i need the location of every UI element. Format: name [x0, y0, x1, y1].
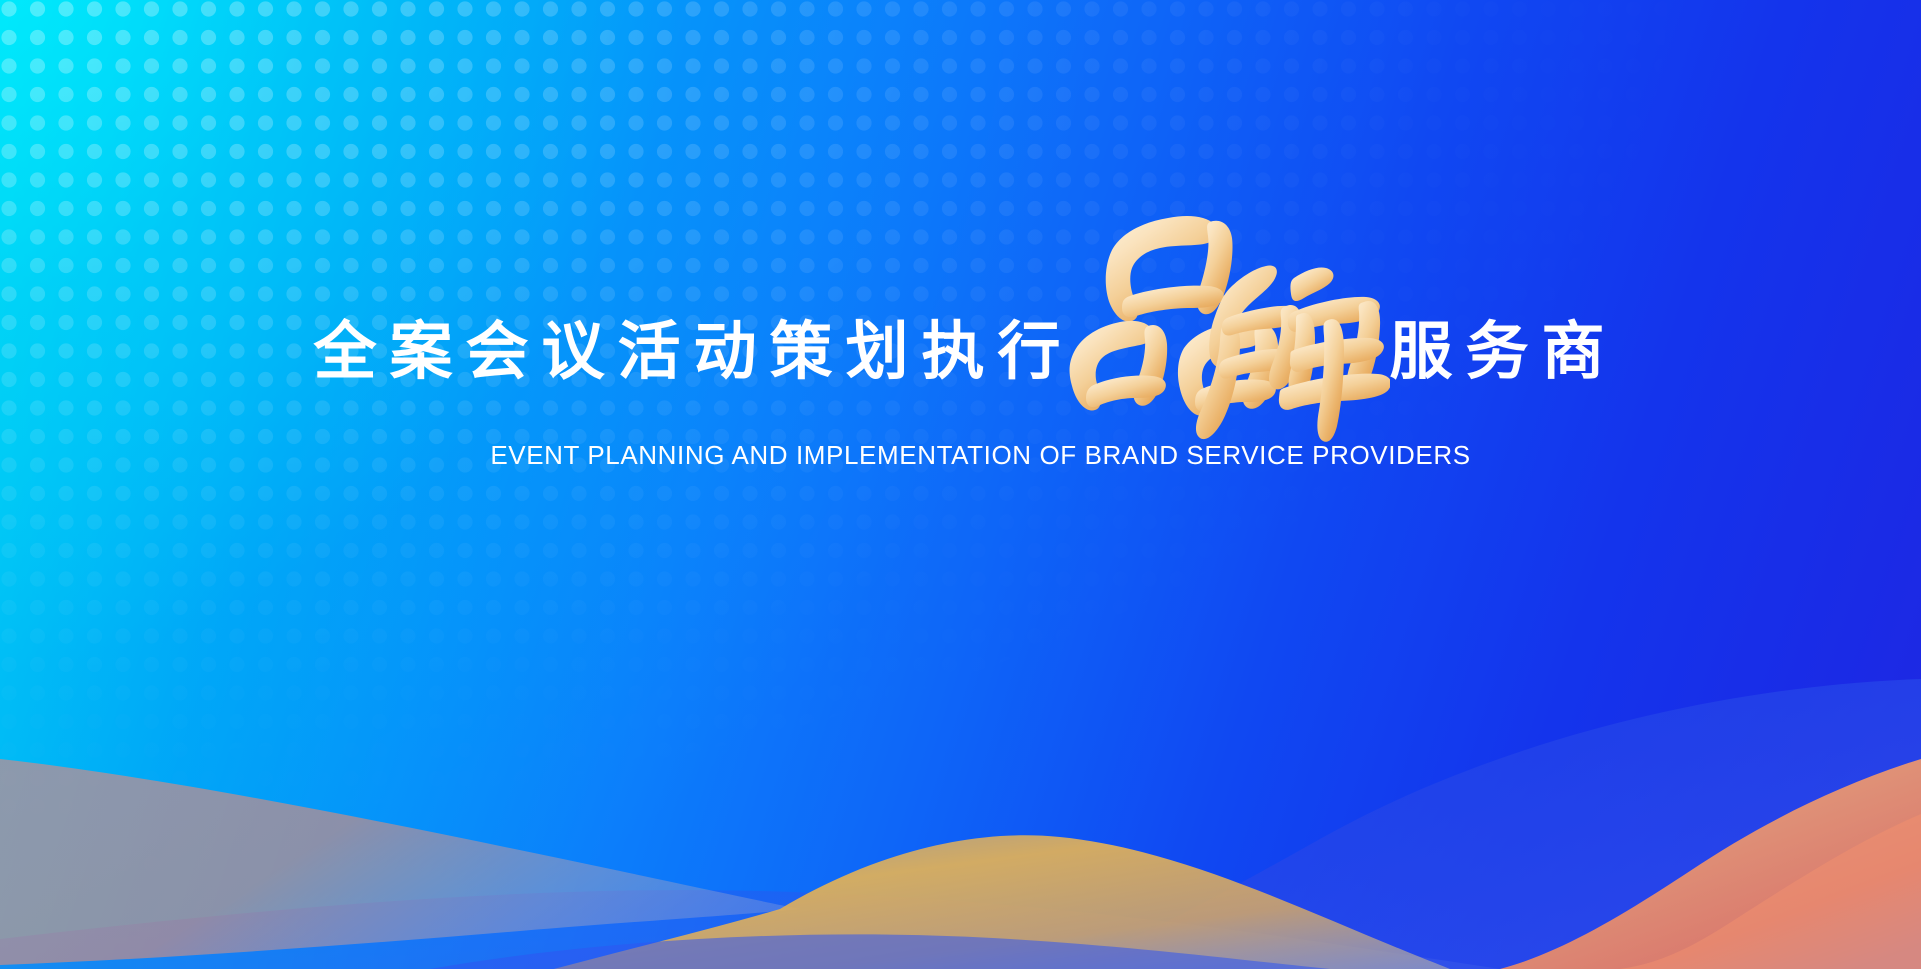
headline-lead-chinese: 全案会议活动策划执行	[314, 321, 1074, 384]
subtitle-english: EVENT PLANNING AND IMPLEMENTATION OF BRA…	[0, 440, 1921, 471]
headline: 全案会议活动策划执行	[0, 295, 1921, 410]
background-glow	[0, 0, 1921, 969]
promo-banner: 全案会议活动策划执行	[0, 0, 1921, 969]
brush-calligraphy-brand-icon	[1060, 192, 1390, 442]
headline-tail-chinese: 服务商	[1390, 321, 1618, 384]
